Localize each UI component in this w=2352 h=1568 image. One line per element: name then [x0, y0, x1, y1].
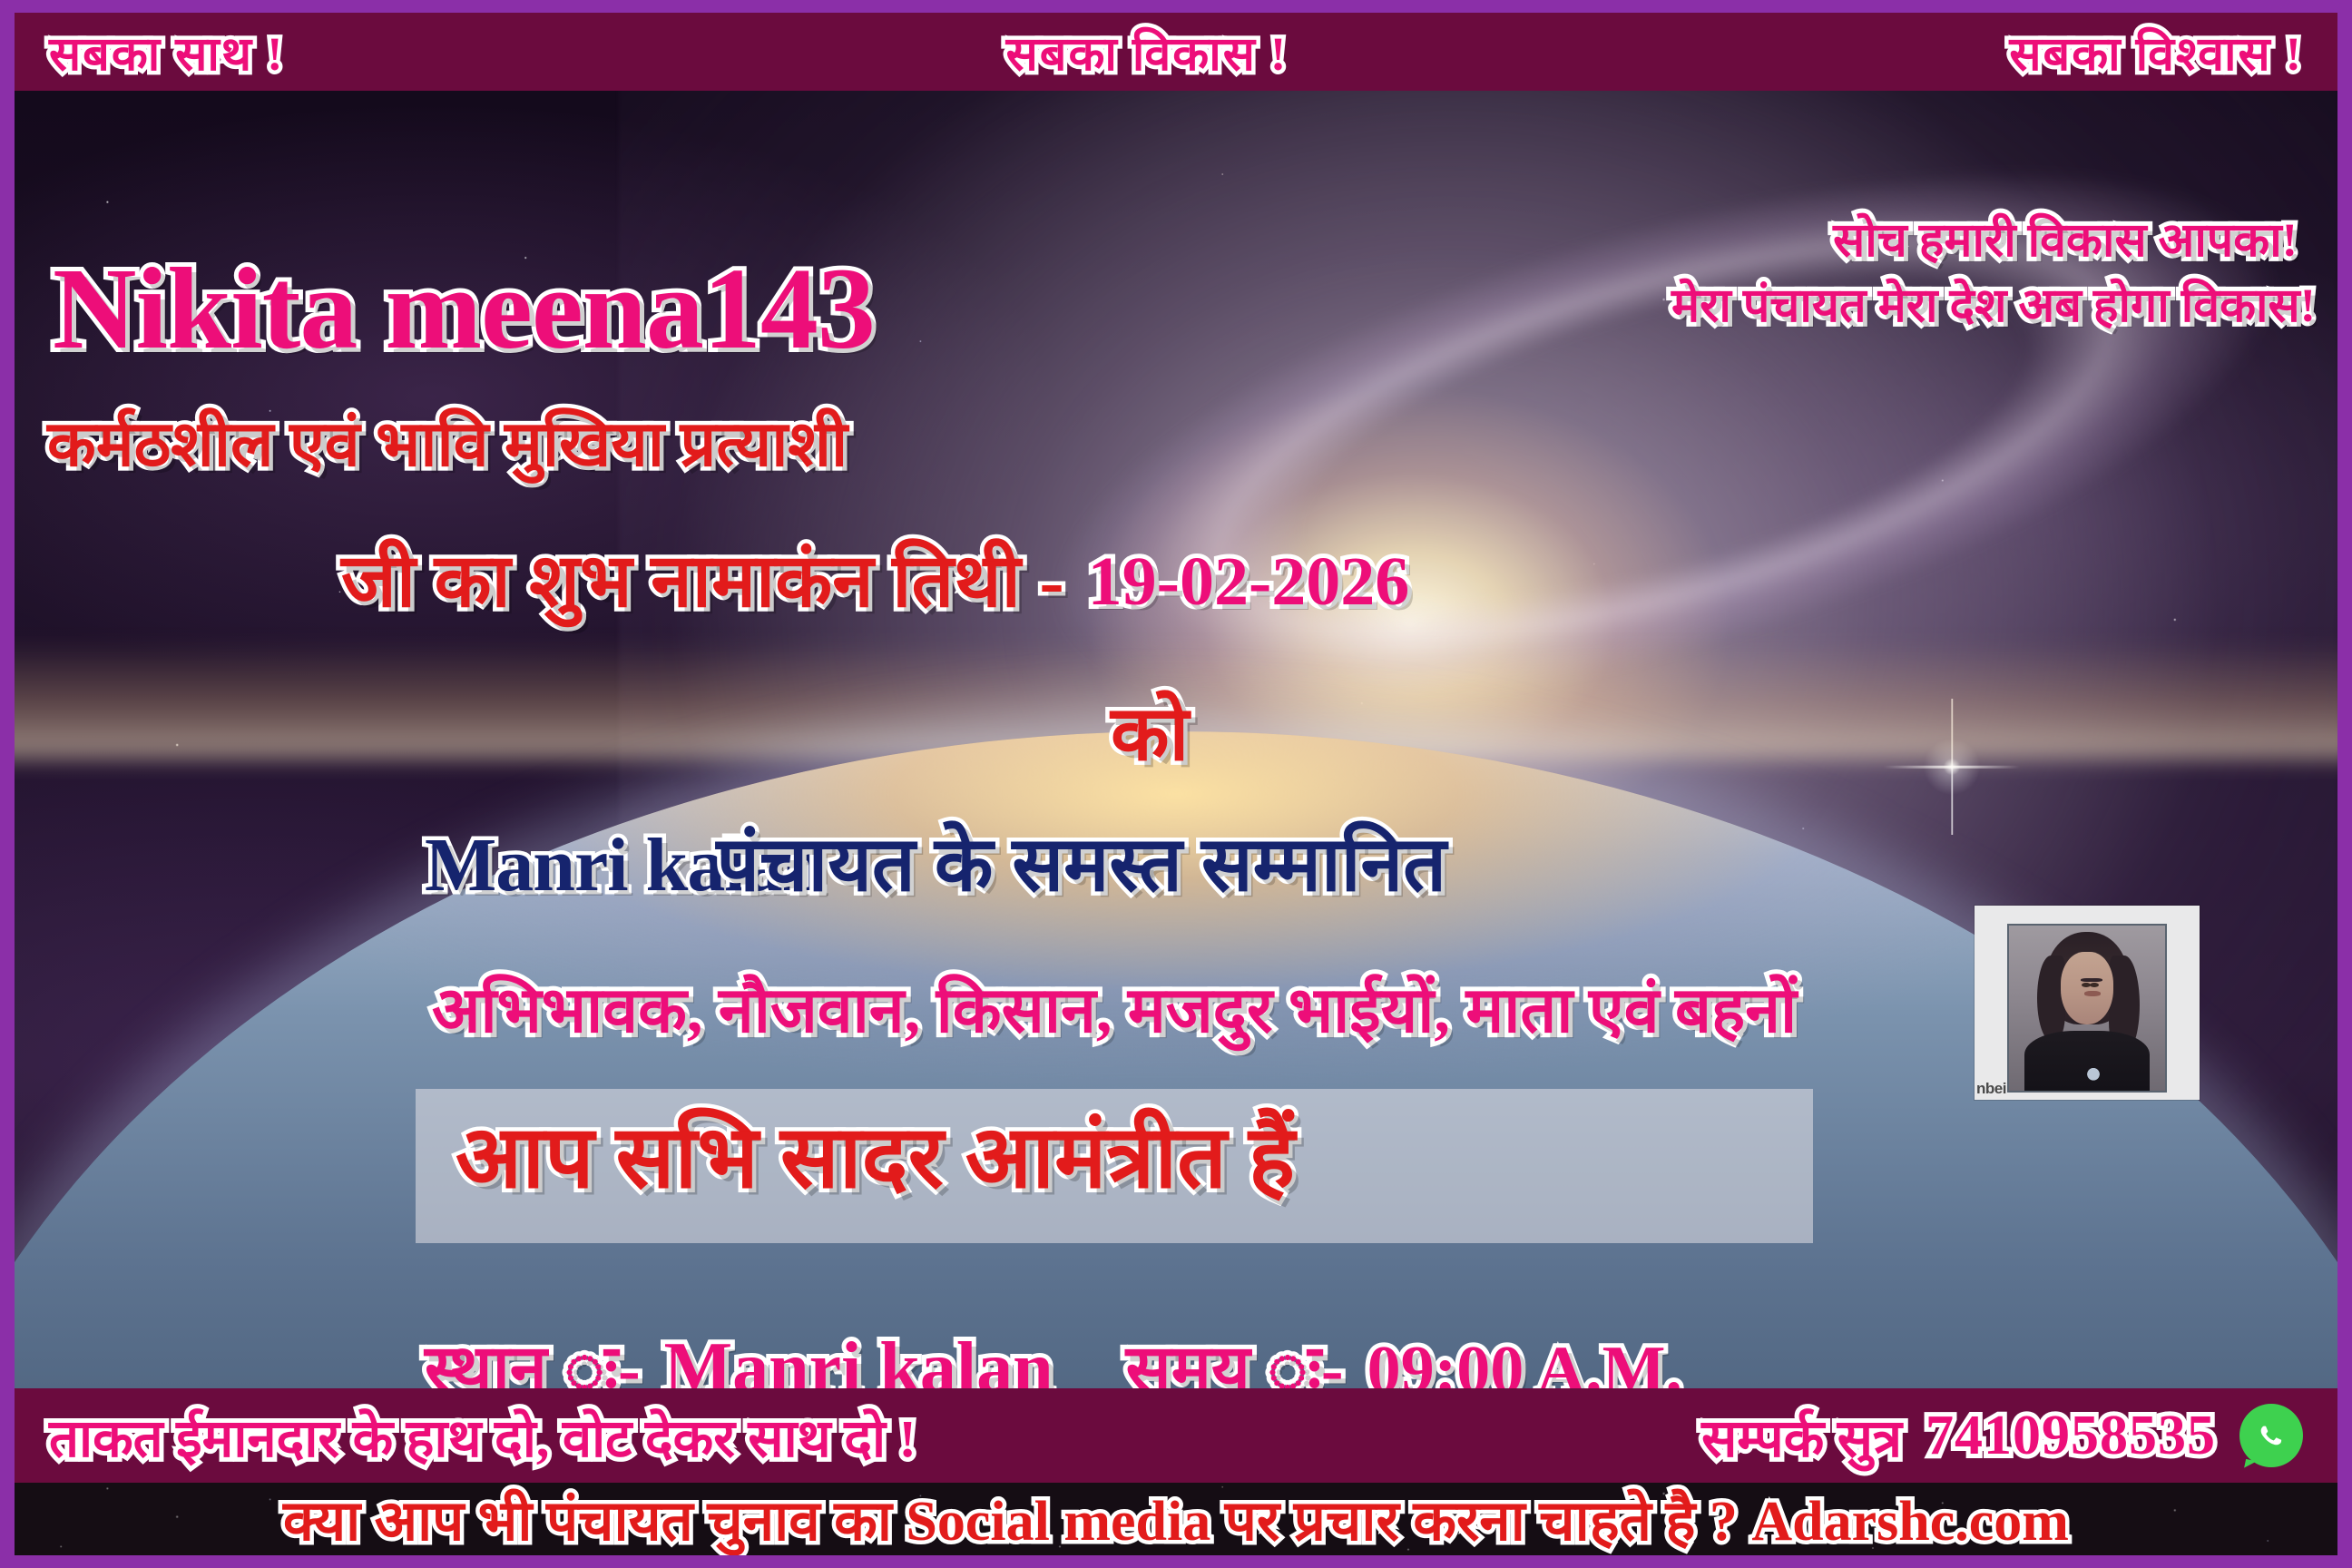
- photo-face: [2061, 952, 2113, 1024]
- election-poster: सबका साथ ! सबका विकास ! सबका विश्वास ! N…: [0, 0, 2352, 1568]
- panchayat-line: Manri kalan पंचायत के समस्त सम्मानित: [425, 828, 1446, 904]
- promo-text[interactable]: क्या आप भी पंचायत चुनाव का Social media …: [283, 1483, 2069, 1555]
- top-slogan-banner: सबका साथ ! सबका विकास ! सबका विश्वास !: [15, 13, 2337, 91]
- contact-phone-number[interactable]: 7410958535: [1926, 1404, 2216, 1468]
- panchayat-text: पंचायत के समस्त सम्मानित: [716, 828, 1446, 904]
- nomination-date-line: जी का शुभ नामाकंन तिथी - 19-02-2026: [341, 544, 1409, 619]
- photo-lips: [2084, 991, 2101, 996]
- slogan-sabka-vikas: सबका विकास !: [1006, 20, 1289, 84]
- invitation-headline: आप सभि सादर आमंत्रीत हैं: [456, 1114, 1295, 1201]
- bottom-contact-banner: ताकत ईमानदार के हाथ दो, वोट देकर साथ दो …: [15, 1388, 2337, 1483]
- nomination-date-value: 19-02-2026: [1088, 547, 1410, 616]
- tagline-primary: सोच हमारी विकास आपका!: [1833, 218, 2298, 265]
- top-slogan-row: सबका साथ ! सबका विकास ! सबका विश्वास !: [15, 20, 2337, 84]
- photo-scan-caption: nbei: [1976, 1080, 2006, 1098]
- nomination-date-label: जी का शुभ नामाकंन तिथी -: [341, 544, 1064, 619]
- slogan-sabka-vishwas: सबका विश्वास !: [2009, 20, 2303, 84]
- photo-torso: [2024, 1031, 2150, 1091]
- footer-promo-strip: क्या आप भी पंचायत चुनाव का Social media …: [15, 1483, 2337, 1555]
- candidate-role-subtitle: कर्मठशील एवं भावि मुखिया प्रत्याशी: [47, 414, 848, 477]
- photo-eye-right: [2090, 983, 2099, 987]
- contact-block: सम्पर्क सुत्र 7410958535: [1701, 1400, 2303, 1472]
- tagline-secondary: मेरा पंचायत मेरा देश अब होगा विकास!: [1671, 283, 2316, 330]
- photo-shirt-motif: [2082, 1066, 2105, 1086]
- contact-label: सम्पर्क सुत्र: [1701, 1400, 1902, 1472]
- ko-connector-word: को: [1111, 697, 1189, 773]
- bottom-banner-row: ताकत ईमानदार के हाथ दो, वोट देकर साथ दो …: [15, 1400, 2337, 1472]
- candidate-photo: nbei: [1975, 906, 2200, 1100]
- candidate-name-title: Nikita meena143: [53, 250, 875, 367]
- whatsapp-icon[interactable]: [2239, 1404, 2303, 1467]
- candidate-photo-inner-border: [2007, 924, 2167, 1093]
- poster-artwork-stage: Nikita meena143 कर्मठशील एवं भावि मुखिया…: [15, 91, 2337, 1483]
- audience-list: अभिभावक, नौजवान, किसान, मजदुर भाईयों, मा…: [432, 980, 1797, 1044]
- slogan-sabka-saath: सबका साथ !: [49, 20, 284, 84]
- photo-eyebrow-right: [2088, 978, 2102, 982]
- vote-appeal-slogan: ताकत ईमानदार के हाथ दो, वोट देकर साथ दो …: [49, 1400, 916, 1472]
